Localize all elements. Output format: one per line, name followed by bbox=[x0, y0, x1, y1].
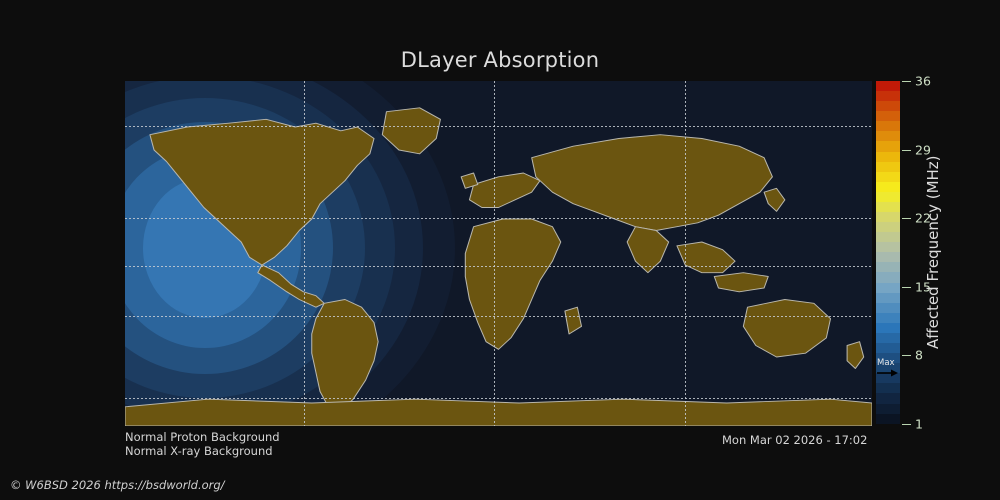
colorbar-segment bbox=[876, 152, 900, 162]
dlayer-absorption-map-page: DLayer Absorption bbox=[0, 0, 1000, 500]
colorbar-segment bbox=[876, 111, 900, 121]
arrow-right-icon bbox=[877, 369, 899, 377]
colorbar-segment bbox=[876, 141, 900, 151]
colorbar-segment bbox=[876, 343, 900, 353]
gridline-lon-90e bbox=[685, 81, 686, 426]
colorbar-tick bbox=[902, 150, 911, 151]
colorbar-segment bbox=[876, 313, 900, 323]
colorbar-tick bbox=[902, 424, 911, 425]
colorbar-max-marker: Max bbox=[876, 359, 900, 381]
colorbar-segment bbox=[876, 172, 900, 182]
colorbar-segment bbox=[876, 121, 900, 131]
world-map[interactable] bbox=[125, 81, 872, 426]
colorbar-segment bbox=[876, 333, 900, 343]
gridline-lon-90w bbox=[304, 81, 305, 426]
colorbar-segment bbox=[876, 222, 900, 232]
proton-status: Normal Proton Background bbox=[125, 430, 280, 444]
colorbar-segment bbox=[876, 383, 900, 393]
colorbar-segment bbox=[876, 262, 900, 272]
gridline-lat-23s bbox=[125, 316, 872, 317]
xray-status: Normal X-ray Background bbox=[125, 444, 273, 458]
colorbar-segment bbox=[876, 162, 900, 172]
colorbar-segment bbox=[876, 393, 900, 403]
gridline-lon-0 bbox=[494, 81, 495, 426]
colorbar-segment bbox=[876, 202, 900, 212]
colorbar-segment bbox=[876, 404, 900, 414]
colorbar-segment bbox=[876, 91, 900, 101]
gridline-lat-23n bbox=[125, 218, 872, 219]
timestamp: Mon Mar 02 2026 - 17:02 bbox=[722, 433, 867, 447]
colorbar-segment bbox=[876, 283, 900, 293]
colorbar-max-label: Max bbox=[877, 358, 895, 368]
colorbar-tick bbox=[902, 81, 911, 82]
colorbar-tick bbox=[902, 218, 911, 219]
colorbar-segment bbox=[876, 101, 900, 111]
colorbar-segment bbox=[876, 131, 900, 141]
colorbar-segment bbox=[876, 293, 900, 303]
copyright-notice: © W6BSD 2026 https://bsdworld.org/ bbox=[10, 478, 225, 492]
colorbar-segment bbox=[876, 323, 900, 333]
colorbar-tick bbox=[902, 355, 911, 356]
colorbar-segment bbox=[876, 242, 900, 252]
page-title: DLayer Absorption bbox=[0, 48, 1000, 72]
colorbar-segment bbox=[876, 414, 900, 424]
colorbar-segment bbox=[876, 192, 900, 202]
colorbar-segment bbox=[876, 212, 900, 222]
colorbar-segment bbox=[876, 252, 900, 262]
colorbar-segment bbox=[876, 81, 900, 91]
colorbar-segment bbox=[876, 272, 900, 282]
colorbar-label: Affected Frequency (MHz) bbox=[922, 81, 944, 424]
colorbar-segment bbox=[876, 303, 900, 313]
colorbar-segment bbox=[876, 182, 900, 192]
colorbar-tick bbox=[902, 287, 911, 288]
gridline-lat-67n bbox=[125, 126, 872, 127]
continents-layer bbox=[125, 81, 872, 426]
gridline-lat-67s bbox=[125, 398, 872, 399]
colorbar-segment bbox=[876, 232, 900, 242]
gridline-lat-0 bbox=[125, 266, 872, 267]
